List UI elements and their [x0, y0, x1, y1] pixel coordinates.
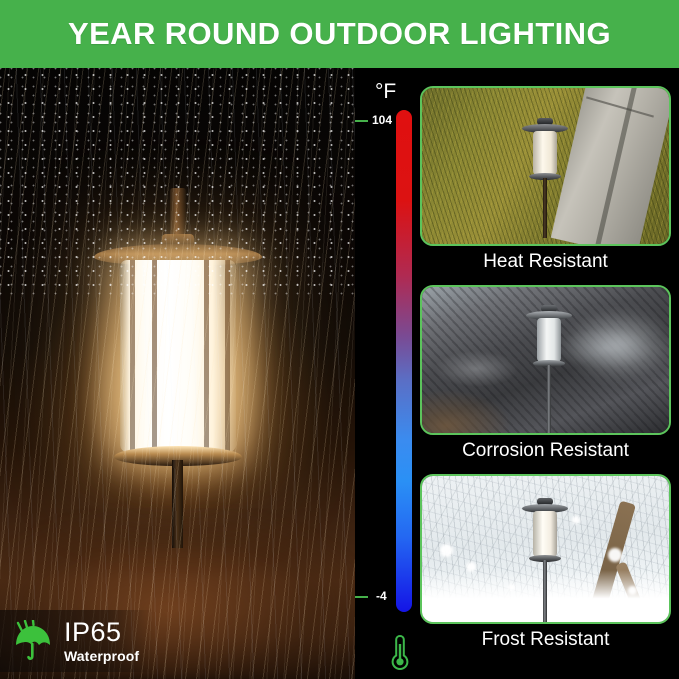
snowflake: [508, 584, 515, 591]
snowflake: [608, 548, 622, 562]
soil-patch: [422, 363, 542, 433]
temperature-max-label: 104: [372, 113, 392, 127]
panel-caption-frost: Frost Resistant: [420, 629, 671, 651]
pathway-light: [526, 305, 572, 433]
temperature-min-label: -4: [376, 589, 387, 603]
lamp-post: [172, 460, 183, 548]
snowflake: [572, 516, 580, 524]
snowflake: [440, 544, 453, 557]
header-banner: YEAR ROUND OUTDOOR LIGHTING: [0, 0, 679, 68]
feature-panels: Heat Resistant Corrosion Resistant: [412, 68, 679, 679]
panel-image-corrosion: [420, 285, 671, 435]
umbrella-icon: [12, 620, 56, 662]
panel-corrosion-resistant[interactable]: Corrosion Resistant: [420, 285, 671, 462]
pathway-light: [522, 118, 568, 238]
panel-caption-corrosion: Corrosion Resistant: [420, 440, 671, 462]
pathway-light: [522, 498, 568, 624]
ip65-badge: IP65 Waterproof: [0, 610, 155, 672]
ip65-label: IP65: [64, 619, 139, 646]
snowflake: [466, 562, 476, 572]
temperature-gradient-bar: [396, 110, 412, 612]
panel-frost-resistant[interactable]: Frost Resistant: [420, 474, 671, 651]
thermometer-icon: [388, 633, 412, 671]
panel-heat-resistant[interactable]: Heat Resistant: [420, 86, 671, 273]
hero-image-rain-lamp: IP65 Waterproof: [0, 68, 355, 679]
temperature-unit-label: °F: [375, 80, 396, 104]
rain-droplets: [0, 68, 355, 298]
panel-caption-heat: Heat Resistant: [420, 251, 671, 273]
panel-image-heat: [420, 86, 671, 246]
snowflake: [628, 586, 637, 595]
waterproof-label: Waterproof: [64, 649, 139, 663]
product-feature-image: YEAR ROUND OUTDOOR LIGHTING: [0, 0, 679, 679]
tick-mark-min: [355, 596, 368, 598]
temperature-scale: °F 104 -4: [355, 68, 412, 679]
panel-image-frost: [420, 474, 671, 624]
page-title: YEAR ROUND OUTDOOR LIGHTING: [68, 16, 611, 52]
tick-mark-max: [355, 120, 368, 122]
